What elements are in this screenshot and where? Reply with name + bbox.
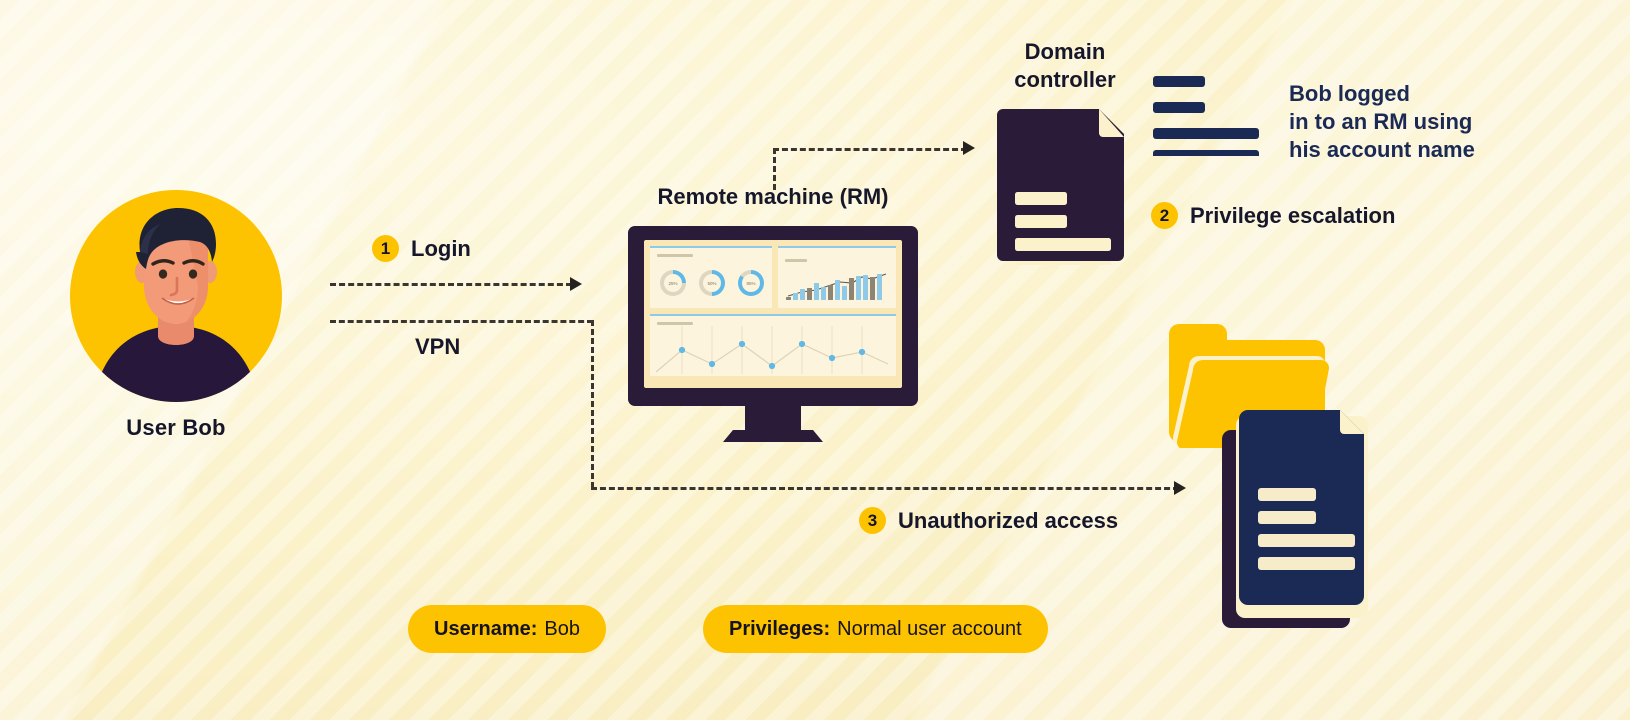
dashboard-card-gauges: 25% 50% 85% <box>650 246 772 308</box>
log-note-line-2: in to an RM using <box>1289 108 1609 136</box>
remote-machine-monitor: 25% 50% 85% <box>628 226 918 406</box>
step-2-privilege-escalation: 2 Privilege escalation <box>1151 202 1395 229</box>
dc-arrow-vertical <box>773 148 776 190</box>
login-arrow-head <box>570 277 582 291</box>
dc-arrow-horizontal <box>773 148 967 151</box>
unauthorized-access-line <box>591 487 1179 490</box>
card-title-bar <box>785 259 807 262</box>
domain-controller-document-icon <box>997 107 1130 265</box>
dc-arrow-head <box>963 141 975 155</box>
vpn-line-horizontal <box>330 320 593 323</box>
vpn-label: VPN <box>415 334 460 360</box>
status-pill-privileges: Privileges: Normal user account <box>703 605 1048 653</box>
step-2-label: Privilege escalation <box>1190 203 1395 229</box>
step-2-badge: 2 <box>1151 202 1178 229</box>
card-title-bar <box>657 254 693 257</box>
username-value: Bob <box>544 618 580 641</box>
status-pill-username: Username: Bob <box>408 605 606 653</box>
avatar <box>70 190 282 402</box>
avatar-circle <box>70 190 282 402</box>
user-avatar-illustration <box>70 190 282 402</box>
log-note-line-3: his account name <box>1289 136 1609 164</box>
monitor-screen: 25% 50% 85% <box>644 240 902 388</box>
vpn-line-vertical <box>591 320 594 488</box>
gauge-2: 50% <box>699 270 725 296</box>
domain-controller-label: Domain controller <box>975 38 1155 94</box>
line-chart <box>650 320 894 376</box>
dashboard-card-bars <box>778 246 896 308</box>
step-3-label: Unauthorized access <box>898 508 1118 534</box>
stacked-documents-icon <box>1218 400 1398 632</box>
gauge-3: 85% <box>738 270 764 296</box>
gauge-1: 25% <box>660 270 686 296</box>
step-3-unauthorized-access: 3 Unauthorized access <box>859 507 1118 534</box>
step-1-login: 1 Login <box>372 235 471 262</box>
monitor-stand-base <box>723 430 823 442</box>
domain-controller-log-note: Bob logged in to an RM using his account… <box>1289 80 1609 164</box>
step-3-badge: 3 <box>859 507 886 534</box>
domain-controller-label-text: Domain controller <box>975 38 1155 94</box>
login-arrow-line <box>330 283 572 286</box>
step-1-badge: 1 <box>372 235 399 262</box>
unauthorized-access-arrow-head <box>1174 481 1186 495</box>
user-label: User Bob <box>70 415 282 441</box>
privileges-value: Normal user account <box>837 618 1022 641</box>
diagram-canvas: User Bob 1 Login VPN Remote machine (RM)… <box>0 0 1630 720</box>
bar-chart <box>786 274 882 300</box>
log-note-line-1: Bob logged <box>1289 80 1609 108</box>
username-label: Username: <box>434 618 537 641</box>
privileges-label: Privileges: <box>729 618 830 641</box>
monitor-stand-neck <box>745 406 801 434</box>
log-lines-icon <box>1153 76 1263 161</box>
step-1-label: Login <box>411 236 471 262</box>
dashboard-card-line <box>650 314 896 376</box>
